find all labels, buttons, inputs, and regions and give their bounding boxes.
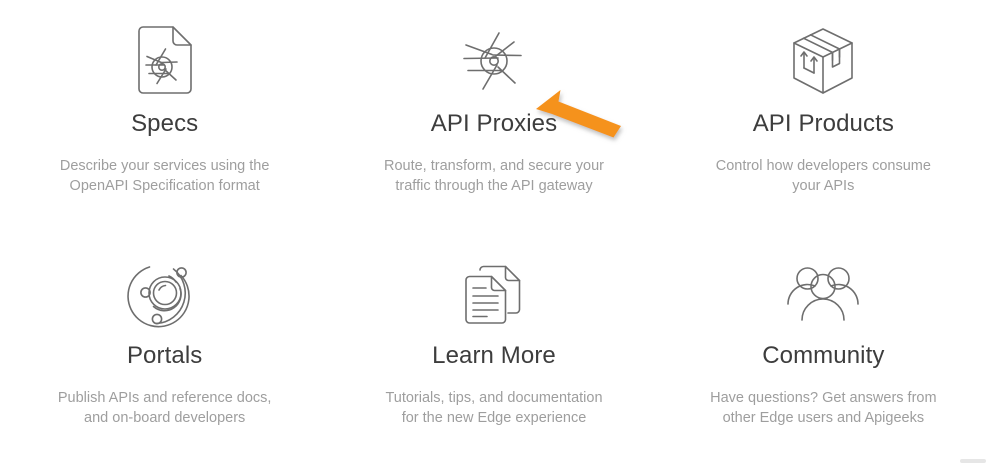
tile-title: API Proxies <box>431 112 557 136</box>
tile-description: Control how developers consume your APIs <box>716 156 931 196</box>
tile-description: Have questions? Get answers from other E… <box>710 388 936 428</box>
tile-title: Specs <box>131 112 198 136</box>
tile-api-proxies[interactable]: API Proxies Route, transform, and secure… <box>329 0 658 232</box>
tile-description-line: Tutorials, tips, and documentation <box>385 388 602 408</box>
tile-description: Publish APIs and reference docs, and on-… <box>58 388 272 428</box>
portal-orbit-icon <box>125 254 205 332</box>
tile-title: Learn More <box>432 344 556 368</box>
tile-description: Describe your services using the OpenAPI… <box>60 156 270 196</box>
tile-description-line: Describe your services using the <box>60 156 270 176</box>
feature-tile-grid: Specs Describe your services using the O… <box>0 0 988 464</box>
tile-description-line: Have questions? Get answers from <box>710 388 936 408</box>
tile-description-line: Route, transform, and secure your <box>384 156 604 176</box>
tile-portals[interactable]: Portals Publish APIs and reference docs,… <box>0 232 329 464</box>
tile-description-line: Control how developers consume <box>716 156 931 176</box>
tile-specs[interactable]: Specs Describe your services using the O… <box>0 0 329 232</box>
tile-description: Route, transform, and secure your traffi… <box>384 156 604 196</box>
tile-description-line: other Edge users and Apigeeks <box>710 408 936 428</box>
spec-document-aperture-icon <box>125 22 205 100</box>
tile-title: Portals <box>127 344 202 368</box>
tile-description-line: your APIs <box>716 176 931 196</box>
tile-description-line: OpenAPI Specification format <box>60 176 270 196</box>
tile-description-line: and on-board developers <box>58 408 272 428</box>
api-proxy-aperture-icon <box>454 22 534 100</box>
tile-api-products[interactable]: API Products Control how developers cons… <box>659 0 988 232</box>
tile-title: API Products <box>753 112 894 136</box>
tile-community[interactable]: Community Have questions? Get answers fr… <box>659 232 988 464</box>
tile-description-line: for the new Edge experience <box>385 408 602 428</box>
tile-description-line: traffic through the API gateway <box>384 176 604 196</box>
tile-learn-more[interactable]: Learn More Tutorials, tips, and document… <box>329 232 658 464</box>
community-people-icon <box>783 254 863 332</box>
scrollbar-nub[interactable] <box>960 459 986 463</box>
package-box-icon <box>783 22 863 100</box>
tile-title: Community <box>762 344 884 368</box>
tile-description-line: Publish APIs and reference docs, <box>58 388 272 408</box>
documents-stack-icon <box>454 254 534 332</box>
tile-description: Tutorials, tips, and documentation for t… <box>385 388 602 428</box>
